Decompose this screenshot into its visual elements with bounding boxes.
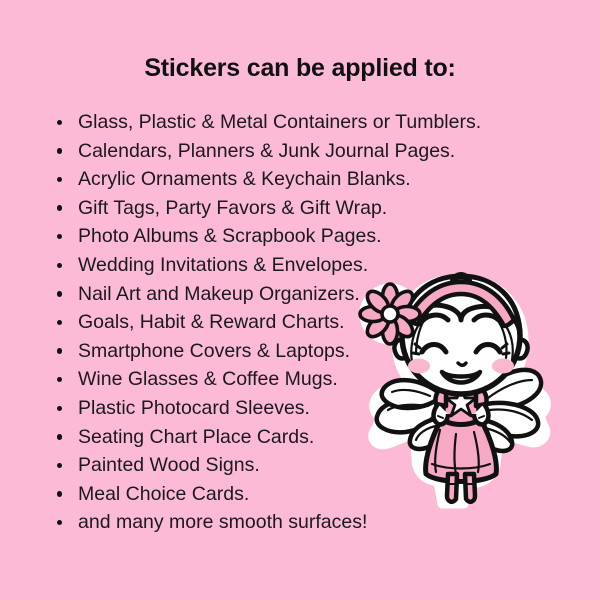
bullet-icon: [57, 120, 62, 125]
page-title: Stickers can be applied to:: [0, 54, 600, 83]
list-item: Glass, Plastic & Metal Containers or Tum…: [56, 108, 556, 137]
list-item-label: Calendars, Planners & Junk Journal Pages…: [78, 140, 455, 162]
list-item-label: Glass, Plastic & Metal Containers or Tum…: [78, 111, 481, 133]
fairy-girl-illustration: [368, 268, 553, 516]
bullet-icon: [57, 434, 62, 439]
list-item: Acrylic Ornaments & Keychain Blanks.: [56, 165, 556, 194]
list-item-label: Plastic Photocard Sleeves.: [78, 397, 310, 419]
list-item: Gift Tags, Party Favors & Gift Wrap.: [56, 194, 556, 223]
sticker-info-card: Stickers can be applied to: Glass, Plast…: [0, 0, 600, 600]
bullet-icon: [57, 148, 62, 153]
bullet-icon: [57, 377, 62, 382]
list-item-label: Gift Tags, Party Favors & Gift Wrap.: [78, 197, 387, 219]
bullet-icon: [57, 463, 62, 468]
bullet-icon: [57, 263, 62, 268]
list-item-label: Photo Albums & Scrapbook Pages.: [78, 225, 382, 247]
list-item: Photo Albums & Scrapbook Pages.: [56, 222, 556, 251]
bullet-icon: [57, 520, 62, 525]
flower-icon: [360, 284, 420, 344]
bullet-icon: [57, 320, 62, 325]
bullet-icon: [57, 348, 62, 353]
list-item-label: Wedding Invitations & Envelopes.: [78, 254, 368, 276]
list-item-label: Meal Choice Cards.: [78, 483, 249, 505]
list-item-label: Smartphone Covers & Laptops.: [78, 340, 350, 362]
left-cheek: [408, 359, 430, 374]
fairy-sticker-group: [360, 274, 546, 504]
bullet-icon: [57, 234, 62, 239]
list-item-label: Nail Art and Makeup Organizers.: [78, 283, 360, 305]
list-item-label: Wine Glasses & Coffee Mugs.: [78, 368, 338, 390]
bullet-icon: [57, 177, 62, 182]
bullet-icon: [57, 406, 62, 411]
list-item-label: Goals, Habit & Reward Charts.: [78, 311, 345, 333]
list-item-label: Acrylic Ornaments & Keychain Blanks.: [78, 168, 411, 190]
bullet-icon: [57, 205, 62, 210]
list-item: Calendars, Planners & Junk Journal Pages…: [56, 137, 556, 166]
list-item-label: Painted Wood Signs.: [78, 454, 260, 476]
bullet-icon: [57, 291, 62, 296]
list-item-label: Seating Chart Place Cards.: [78, 426, 314, 448]
bullet-icon: [57, 491, 62, 496]
list-item-label: and many more smooth surfaces!: [78, 511, 367, 533]
right-cheek: [492, 359, 514, 374]
